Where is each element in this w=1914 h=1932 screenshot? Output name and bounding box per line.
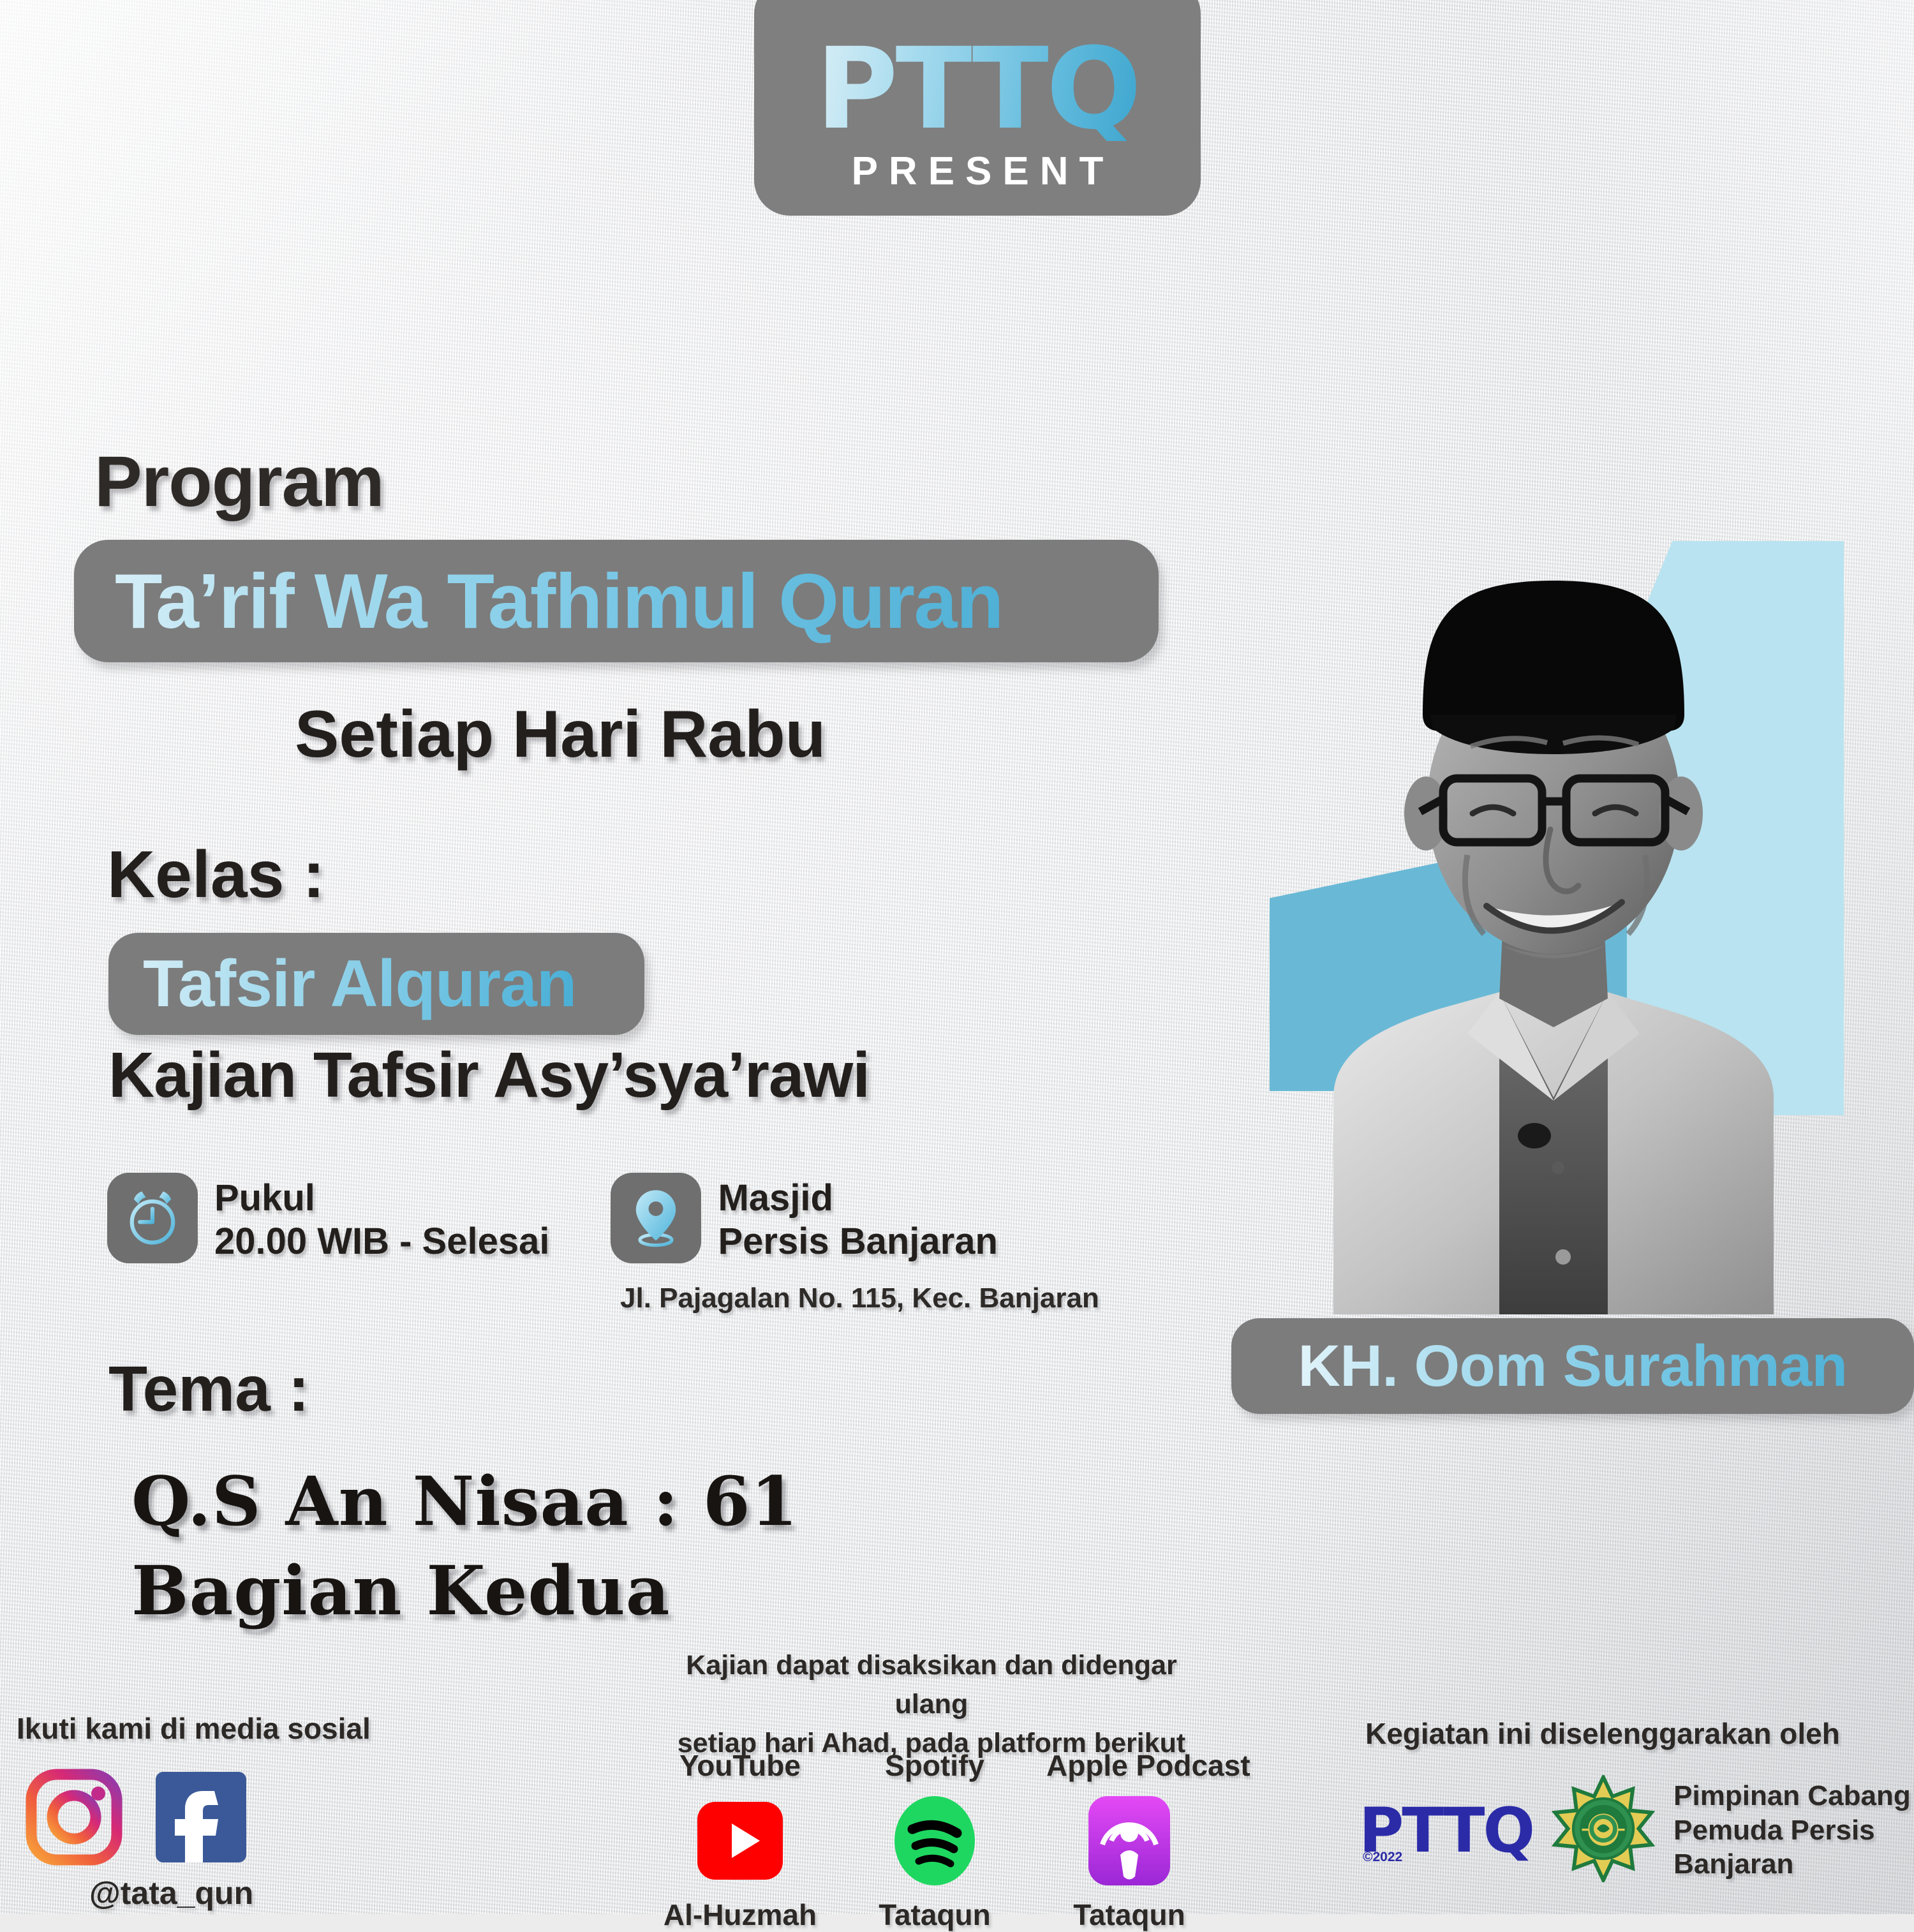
social-handle: @tata_qun — [89, 1875, 253, 1912]
platform-note-line1: Kajian dapat disaksikan dan didengar ula… — [651, 1646, 1212, 1724]
time-line1: Pukul — [214, 1177, 549, 1220]
platform-name: YouTube — [657, 1748, 823, 1783]
speaker-name: KH. Oom Surahman — [1298, 1333, 1847, 1400]
persis-emblem-icon — [1550, 1775, 1657, 1885]
platform-name: Spotify — [852, 1748, 1018, 1783]
platform-youtube[interactable]: YouTube Al-Huzmah — [657, 1748, 823, 1932]
platform-note: Kajian dapat disaksikan dan didengar ula… — [651, 1646, 1212, 1763]
speaker-portrait-area — [1270, 523, 1844, 1314]
time-line2: 20.00 WIB - Selesai — [214, 1220, 549, 1263]
platform-handle: Tataqun — [852, 1898, 1018, 1932]
spotify-icon[interactable] — [852, 1793, 1018, 1889]
organizer-name-line1: Pimpinan Cabang — [1673, 1779, 1911, 1813]
instagram-icon[interactable] — [26, 1769, 122, 1869]
present-label: PRESENT — [841, 149, 1115, 194]
kelas-label: Kelas : — [107, 837, 325, 913]
platform-spotify[interactable]: Spotify Tataqun — [852, 1748, 1018, 1932]
organizer-pttq-logo: PTTQ ©2022 — [1359, 1800, 1533, 1861]
pttq-present-badge: PTTQ PRESENT — [754, 0, 1201, 216]
place-info-block: Masjid Persis Banjaran — [611, 1173, 997, 1264]
facebook-icon[interactable] — [156, 1772, 246, 1866]
organizer-label: Kegiatan ini diselenggarakan oleh — [1365, 1716, 1840, 1751]
platform-apple-podcast[interactable]: Apple Podcast Tataqun — [1046, 1748, 1212, 1932]
social-label: Ikuti kami di media sosial — [17, 1711, 371, 1746]
platform-name: Apple Podcast — [1046, 1748, 1212, 1783]
apple-podcast-icon[interactable] — [1046, 1793, 1212, 1889]
tema-label: Tema : — [108, 1353, 309, 1426]
youtube-icon[interactable] — [657, 1793, 823, 1889]
tema-line-2: Bagian Kedua — [131, 1550, 670, 1630]
alarm-clock-icon — [107, 1173, 198, 1263]
place-line1: Masjid — [718, 1177, 997, 1220]
platform-row: YouTube Al-Huzmah Spotify Tataqun Apple … — [657, 1748, 1212, 1932]
platform-handle: Al-Huzmah — [657, 1898, 823, 1932]
time-text: Pukul 20.00 WIB - Selesai — [214, 1173, 549, 1264]
platform-handle: Tataqun — [1046, 1898, 1212, 1932]
program-title-chip: Ta’rif Wa Tafhimul Quran — [74, 540, 1159, 662]
kelas-subject: Kajian Tafsir Asy’sya’rawi — [108, 1039, 870, 1112]
social-icons — [26, 1769, 246, 1869]
tema-line-1: Q.S An Nisaa : 61 — [131, 1461, 798, 1541]
place-text: Masjid Persis Banjaran — [718, 1173, 997, 1264]
program-day: Setiap Hari Rabu — [295, 697, 826, 773]
time-info-block: Pukul 20.00 WIB - Selesai — [107, 1173, 549, 1264]
place-line2: Persis Banjaran — [718, 1220, 997, 1263]
venue-address: Jl. Pajagalan No. 115, Kec. Banjaran — [620, 1282, 1099, 1314]
program-label: Program — [94, 440, 384, 523]
speaker-photo — [1308, 523, 1799, 1314]
organizer-name-line2: Pemuda Persis — [1673, 1813, 1911, 1848]
pttq-logo: PTTQ — [816, 38, 1139, 141]
speaker-name-chip: KH. Oom Surahman — [1231, 1318, 1914, 1414]
map-pin-icon — [611, 1173, 701, 1263]
program-title: Ta’rif Wa Tafhimul Quran — [74, 556, 1003, 646]
organizer-name: Pimpinan Cabang Pemuda Persis Banjaran — [1673, 1779, 1911, 1882]
kelas-name-chip: Tafsir Alquran — [108, 933, 644, 1035]
organizer-name-line3: Banjaran — [1673, 1847, 1911, 1882]
kelas-name: Tafsir Alquran — [108, 946, 576, 1022]
event-info-row: Pukul 20.00 WIB - Selesai Masjid Persis … — [107, 1173, 998, 1264]
organizer-logo-year: ©2022 — [1363, 1850, 1402, 1865]
organizer-row: PTTQ ©2022 Pimpinan Cabang Pemuda Persis… — [1359, 1775, 1911, 1885]
